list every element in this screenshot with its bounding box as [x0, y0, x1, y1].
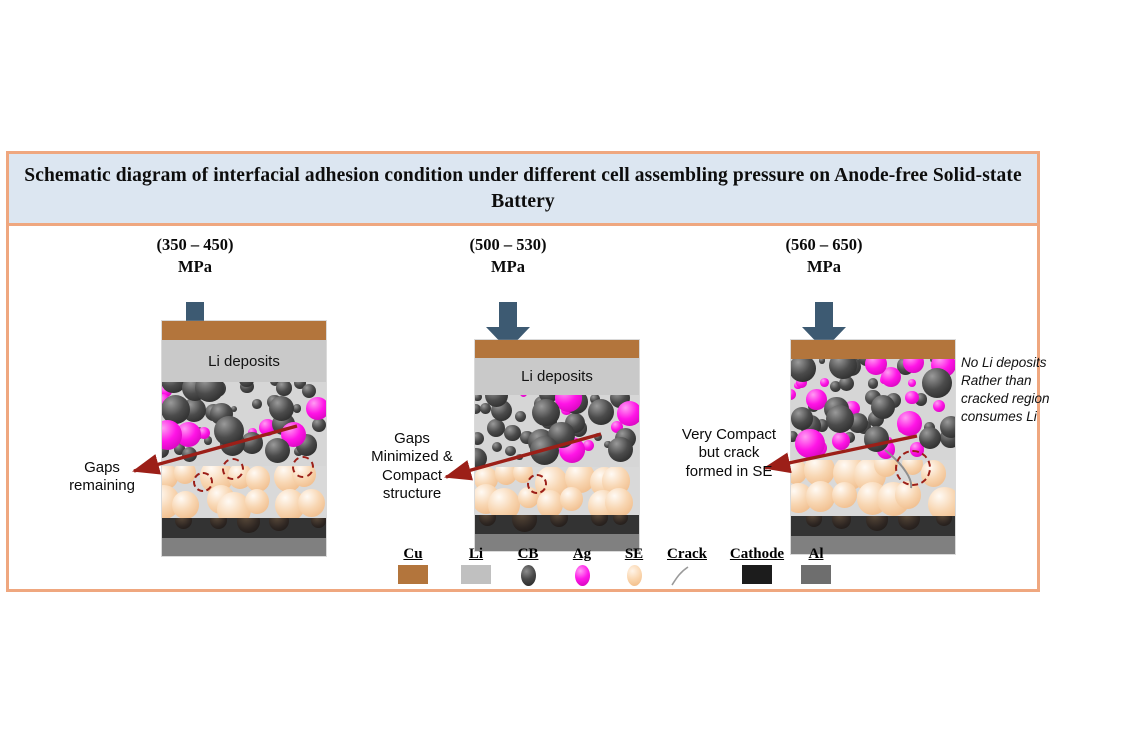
particle — [588, 399, 614, 425]
particle — [302, 384, 316, 398]
particle — [829, 359, 857, 379]
particle — [492, 442, 502, 452]
panel-3-callout: Very Compact but crack formed in SE — [664, 426, 794, 481]
particle — [515, 411, 526, 422]
legend-item-ag: Ag — [558, 546, 606, 586]
legend-swatch-al — [801, 565, 831, 584]
particle — [475, 448, 487, 467]
particle — [820, 378, 829, 387]
se-particle — [172, 491, 200, 519]
legend-item-li: Li — [452, 546, 500, 584]
se-particle — [928, 487, 955, 516]
particle — [475, 432, 484, 445]
page-title: Schematic diagram of interfacial adhesio… — [9, 163, 1037, 214]
cathode-particle — [591, 515, 608, 526]
particle — [475, 395, 482, 401]
cathode-particle — [866, 516, 889, 531]
particle — [312, 418, 326, 432]
particle — [487, 419, 505, 437]
particle — [214, 416, 244, 446]
panel-2-callout: Gaps Minimized & Compact structure — [351, 430, 473, 503]
layer-li-deposits: Li deposits — [475, 358, 639, 395]
particle — [617, 401, 639, 426]
legend-label: Cu — [389, 546, 437, 563]
particle — [608, 437, 633, 462]
particle — [864, 426, 889, 451]
particle — [306, 397, 326, 420]
particle — [791, 359, 816, 382]
layer-cu — [162, 321, 326, 340]
particle — [832, 432, 850, 450]
particle — [520, 395, 528, 397]
layer-cathode — [791, 516, 955, 536]
legend-item-se: SE — [610, 546, 658, 586]
layer-carbon-black-silver — [791, 359, 955, 460]
particle — [504, 425, 521, 442]
particle — [868, 378, 879, 389]
legend-swatch-ag — [575, 565, 590, 586]
particle — [594, 433, 602, 441]
particle — [903, 359, 924, 373]
cathode-particle — [311, 518, 326, 528]
particle — [819, 359, 825, 364]
gap-marker — [527, 474, 547, 494]
legend: Cu Li CB Ag SE Crack Cathode — [9, 546, 1037, 592]
layer-cathode — [475, 515, 639, 534]
legend-swatch-cb — [521, 565, 536, 586]
legend-label: Al — [792, 546, 840, 563]
cathode-particle — [936, 516, 952, 526]
legend-swatch-li — [461, 565, 491, 584]
legend-item-cu: Cu — [389, 546, 437, 584]
legend-swatch-cu — [398, 565, 428, 584]
legend-label: SE — [610, 546, 658, 563]
cathode-particle — [175, 518, 192, 529]
legend-item-cathode: Cathode — [715, 546, 799, 584]
particle — [897, 411, 922, 436]
se-particle — [488, 488, 520, 516]
se-particle — [806, 481, 836, 512]
layer-li-deposits: Li deposits — [162, 340, 326, 382]
particle — [933, 400, 945, 412]
cathode-particle — [512, 515, 538, 532]
particle — [530, 436, 560, 466]
cathode-particle — [613, 515, 628, 525]
se-particle — [560, 487, 583, 512]
gap-marker — [292, 456, 314, 478]
particle — [182, 447, 197, 462]
panel-2-stack: Li deposits — [475, 340, 639, 551]
legend-item-cb: CB — [504, 546, 552, 586]
legend-label: Li — [452, 546, 500, 563]
se-particle — [246, 466, 270, 492]
cathode-particle — [806, 516, 823, 527]
legend-item-al: Al — [792, 546, 840, 584]
particle — [871, 395, 895, 419]
particle — [516, 454, 522, 460]
cathode-particle — [237, 518, 260, 533]
particle — [919, 427, 941, 449]
legend-swatch-cathode — [742, 565, 772, 584]
cathode-particle — [832, 516, 852, 529]
cathode-particle — [550, 515, 569, 527]
legend-label: Ag — [558, 546, 606, 563]
particle — [791, 389, 796, 400]
particle — [922, 368, 952, 398]
cathode-particle — [898, 516, 920, 530]
legend-swatch-crack — [667, 565, 707, 586]
panel-2-pressure: (500 – 530) MPa — [408, 234, 608, 278]
particle — [905, 391, 919, 405]
cathode-particle — [269, 518, 289, 531]
cathode-particle — [479, 515, 496, 526]
panel-1-callout: Gaps remaining — [42, 459, 162, 496]
particle — [795, 429, 825, 459]
legend-item-crack: Crack — [654, 546, 720, 591]
se-particle — [832, 482, 857, 508]
legend-label: Crack — [654, 546, 720, 563]
gap-marker — [222, 458, 244, 480]
particle — [265, 438, 290, 463]
legend-label: Cathode — [715, 546, 799, 563]
particle — [505, 446, 516, 457]
panel-1-pressure: (350 – 450) MPa — [95, 234, 295, 278]
layer-cu — [475, 340, 639, 358]
particle — [269, 396, 294, 421]
particle — [791, 407, 813, 430]
se-particle — [537, 490, 563, 515]
cathode-particle — [210, 518, 227, 529]
se-particle — [245, 489, 269, 514]
gap-marker — [193, 472, 213, 492]
legend-swatch-se — [627, 565, 642, 586]
gap-marker — [895, 450, 931, 486]
panel-1-stack: Li deposits — [162, 321, 326, 556]
se-particle — [605, 488, 633, 516]
particle — [252, 399, 262, 409]
layer-solid-electrolyte — [475, 467, 639, 515]
layer-carbon-black-silver — [475, 395, 639, 467]
layer-carbon-black-silver — [162, 382, 326, 466]
panel-3-stack — [791, 340, 955, 554]
particle — [908, 379, 916, 387]
layer-cu — [791, 340, 955, 359]
panel-3-note: No Li deposits Rather than cracked regio… — [961, 354, 1057, 426]
particle — [276, 382, 292, 396]
layer-cathode — [162, 518, 326, 538]
panel-3-pressure: (560 – 650) MPa — [724, 234, 924, 278]
se-particle — [298, 489, 325, 517]
legend-label: CB — [504, 546, 552, 563]
diagram-frame: Schematic diagram of interfacial adhesio… — [6, 151, 1040, 592]
title-bar: Schematic diagram of interfacial adhesio… — [9, 154, 1037, 226]
